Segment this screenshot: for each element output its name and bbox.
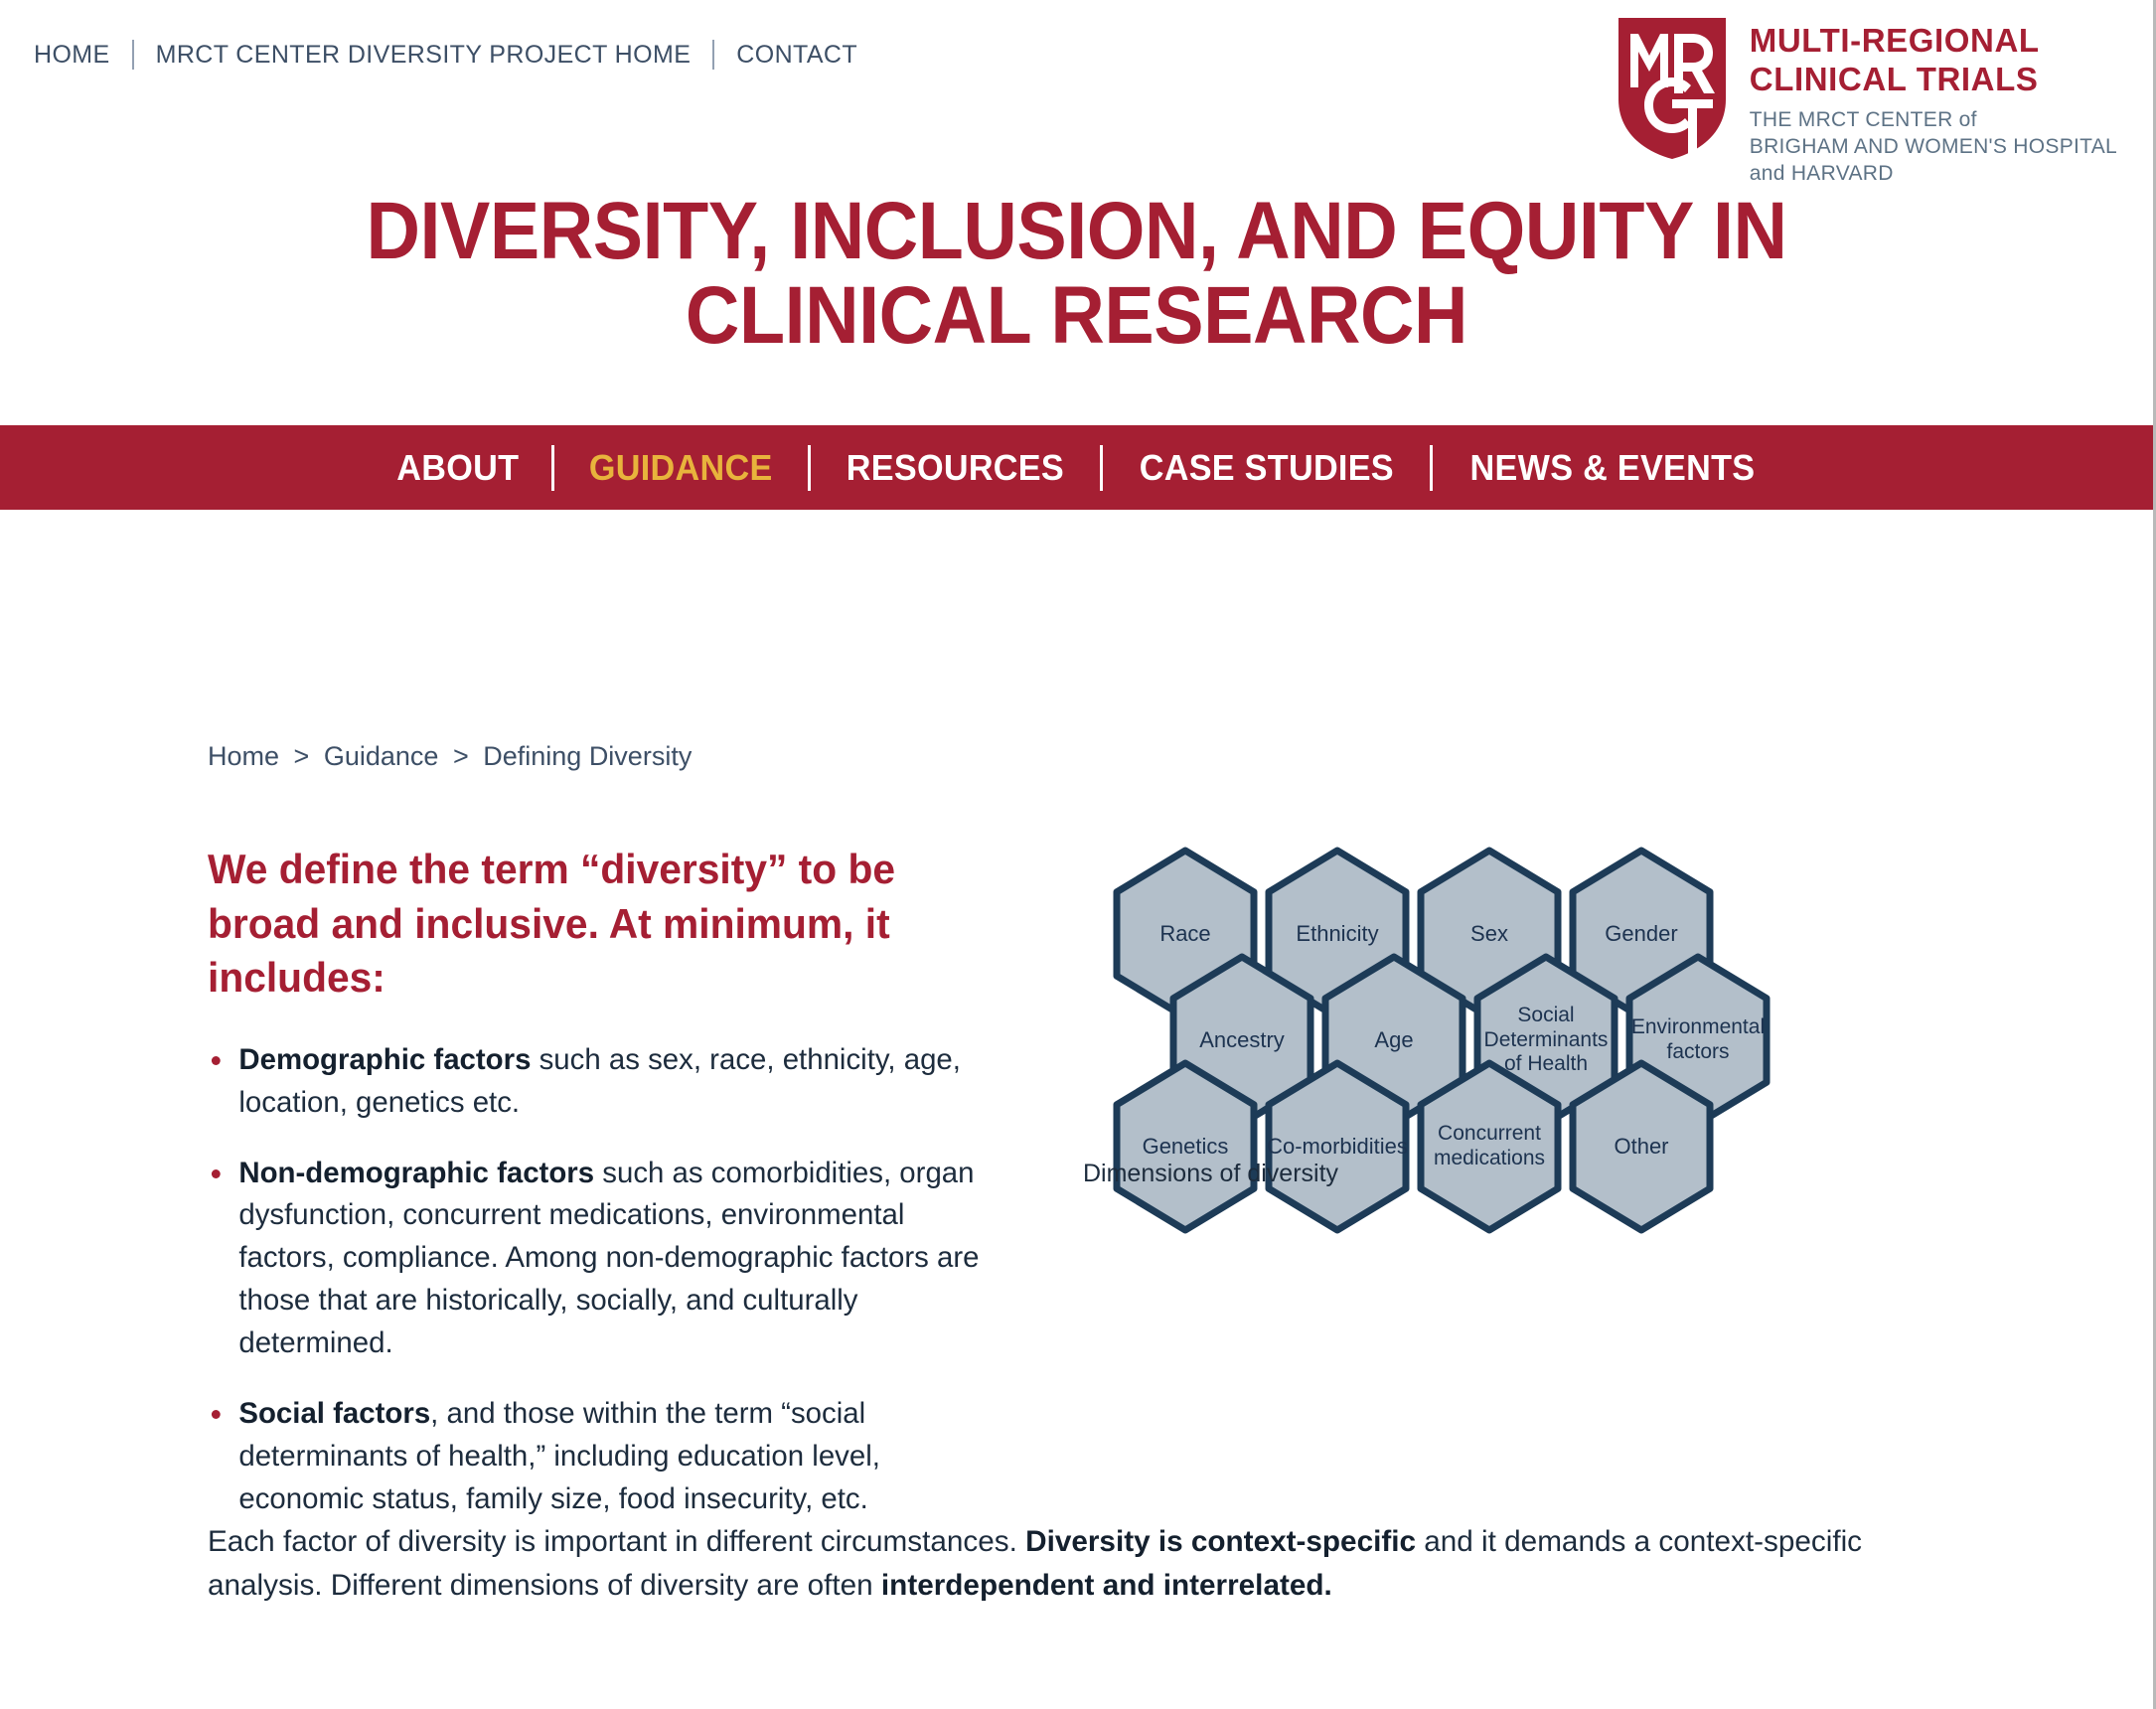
hex-other: Other <box>1569 1059 1714 1234</box>
closing-bold1: Diversity is context-specific <box>1025 1525 1416 1558</box>
logo-sub-line1: THE MRCT CENTER of <box>1750 106 2117 133</box>
bullet-term: Demographic factors <box>238 1043 531 1076</box>
hex-label: Race <box>1157 921 1212 947</box>
hex-label: Co-morbidities <box>1265 1134 1410 1160</box>
factor-list: Demographic factors such as sex, race, e… <box>208 1039 1012 1521</box>
hexagon-grid: RaceEthnicitySexGenderAncestryAgeSocial … <box>1113 847 1987 1264</box>
hex-label: Other <box>1612 1134 1670 1160</box>
left-column: We define the term “diversity” to be bro… <box>208 843 1012 1549</box>
page-root: HOME MRCT CENTER DIVERSITY PROJECT HOME … <box>0 0 2156 1709</box>
hex-concurrent-medications: Concurrent medications <box>1417 1059 1562 1234</box>
main-nav-divider <box>551 445 554 491</box>
breadcrumb-home[interactable]: Home <box>208 741 279 771</box>
mrct-logo[interactable]: MULTI-REGIONAL CLINICAL TRIALS THE MRCT … <box>1617 16 2117 188</box>
main-nav-resources[interactable]: RESOURCES <box>818 447 1092 489</box>
main-nav-divider <box>808 445 811 491</box>
logo-sub-line2: BRIGHAM AND WOMEN'S HOSPITAL <box>1750 133 2117 160</box>
list-item: Non-demographic factors such as comorbid… <box>208 1153 997 1365</box>
hex-label: Concurrent medications <box>1417 1122 1562 1171</box>
logo-sub-line3: and HARVARD <box>1750 160 2117 187</box>
main-nav-about[interactable]: ABOUT <box>369 447 547 489</box>
utility-nav: HOME MRCT CENTER DIVERSITY PROJECT HOME … <box>34 40 879 70</box>
utility-nav-project-home[interactable]: MRCT CENTER DIVERSITY PROJECT HOME <box>134 41 713 70</box>
hex-label: Environmental factors <box>1625 1015 1771 1065</box>
utility-nav-home[interactable]: HOME <box>34 41 132 70</box>
figure-caption: Dimensions of diversity <box>1083 1160 1338 1188</box>
hex-co-morbidities: Co-morbidities <box>1265 1059 1410 1234</box>
page-title: Defining Diversity <box>512 563 1068 655</box>
list-item: Demographic factors such as sex, race, e… <box>208 1039 997 1125</box>
utility-nav-contact[interactable]: CONTACT <box>714 41 879 70</box>
hex-label: Sex <box>1468 921 1510 947</box>
breadcrumb-current: Defining Diversity <box>483 741 692 771</box>
closing-part1: Each factor of diversity is important in… <box>208 1525 1025 1558</box>
hex-label: Ancestry <box>1197 1027 1287 1053</box>
main-nav-divider <box>1430 445 1433 491</box>
page-banner: Defining Diversity <box>0 510 2156 707</box>
closing-bold2: interdependent and interrelated. <box>881 1569 1332 1602</box>
mrct-shield-icon <box>1617 16 1728 161</box>
main-nav-case-studies[interactable]: CASE STUDIES <box>1111 447 1422 489</box>
logo-title-line1: MULTI-REGIONAL <box>1750 22 2117 61</box>
diversity-dimensions-figure: RaceEthnicitySexGenderAncestryAgeSocial … <box>1113 847 2007 1323</box>
main-nav-divider <box>1100 445 1103 491</box>
hex-label: Ethnicity <box>1294 921 1380 947</box>
breadcrumb: Home > Guidance > Defining Diversity <box>208 741 692 772</box>
hex-label: Genetics <box>1141 1134 1231 1160</box>
hex-label: Age <box>1372 1027 1415 1053</box>
main-nav: ABOUT GUIDANCE RESOURCES CASE STUDIES NE… <box>0 425 2156 510</box>
hex-genetics: Genetics <box>1113 1059 1258 1234</box>
logo-title-line2: CLINICAL TRIALS <box>1750 61 2117 99</box>
main-nav-news-events[interactable]: NEWS & EVENTS <box>1442 447 1783 489</box>
breadcrumb-guidance[interactable]: Guidance <box>324 741 439 771</box>
breadcrumb-separator: > <box>287 741 317 771</box>
lead-heading: We define the term “diversity” to be bro… <box>208 843 989 1006</box>
breadcrumb-separator: > <box>446 741 476 771</box>
main-nav-guidance[interactable]: GUIDANCE <box>561 447 802 489</box>
hex-label: Social Determinants of Health <box>1473 1004 1618 1077</box>
bullet-term: Social factors <box>238 1397 430 1430</box>
logo-wordmark: MULTI-REGIONAL CLINICAL TRIALS THE MRCT … <box>1750 16 2117 188</box>
closing-paragraph: Each factor of diversity is important in… <box>208 1520 1910 1608</box>
list-item: Social factors, and those within the ter… <box>208 1393 997 1521</box>
site-title: DIVERSITY, INCLUSION, AND EQUITY IN CLIN… <box>86 189 2068 359</box>
bullet-term: Non-demographic factors <box>238 1157 594 1189</box>
hex-label: Gender <box>1603 921 1679 947</box>
